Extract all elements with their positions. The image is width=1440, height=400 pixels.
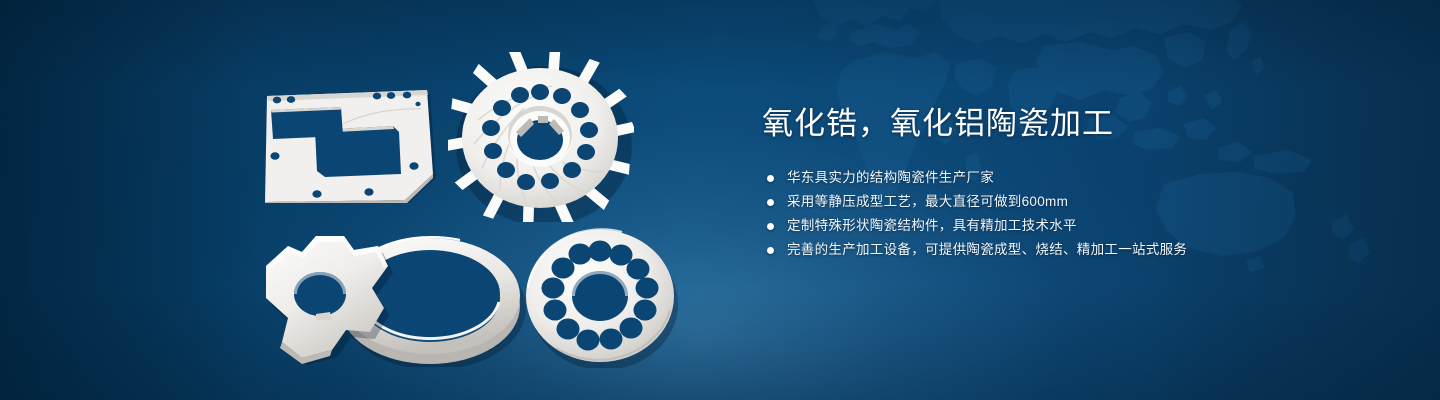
bullet-dot-icon [767, 247, 774, 254]
product-ceramic-impeller [448, 52, 634, 222]
bullet-dot-icon [767, 223, 774, 230]
product-ceramic-plate [252, 78, 437, 203]
hero-banner: 氧化锆，氧化铝陶瓷加工 华东具实力的结构陶瓷件生产厂家 采用等静压成型工艺，最大… [0, 0, 1440, 400]
feature-item-3: 定制特殊形状陶瓷结构件，具有精加工技术水平 [762, 214, 1382, 238]
feature-text-3: 定制特殊形状陶瓷结构件，具有精加工技术水平 [787, 214, 1077, 238]
product-image-group [0, 0, 740, 400]
bullet-dot-icon [767, 175, 774, 182]
product-ceramic-cross-part [252, 228, 412, 368]
bullet-dot-icon [767, 199, 774, 206]
banner-feature-list: 华东具实力的结构陶瓷件生产厂家 采用等静压成型工艺，最大直径可做到600mm 定… [762, 166, 1382, 262]
feature-text-2: 采用等静压成型工艺，最大直径可做到600mm [787, 190, 1068, 214]
feature-text-4: 完善的生产加工设备，可提供陶瓷成型、烧结、精加工一站式服务 [787, 238, 1187, 262]
feature-text-1: 华东具实力的结构陶瓷件生产厂家 [787, 166, 994, 190]
product-ceramic-perforated-disc [518, 224, 682, 368]
banner-title: 氧化锆，氧化铝陶瓷加工 [762, 104, 1382, 144]
feature-item-1: 华东具实力的结构陶瓷件生产厂家 [762, 166, 1382, 190]
feature-item-4: 完善的生产加工设备，可提供陶瓷成型、烧结、精加工一站式服务 [762, 238, 1382, 262]
banner-text-block: 氧化锆，氧化铝陶瓷加工 华东具实力的结构陶瓷件生产厂家 采用等静压成型工艺，最大… [762, 104, 1382, 262]
feature-item-2: 采用等静压成型工艺，最大直径可做到600mm [762, 190, 1382, 214]
